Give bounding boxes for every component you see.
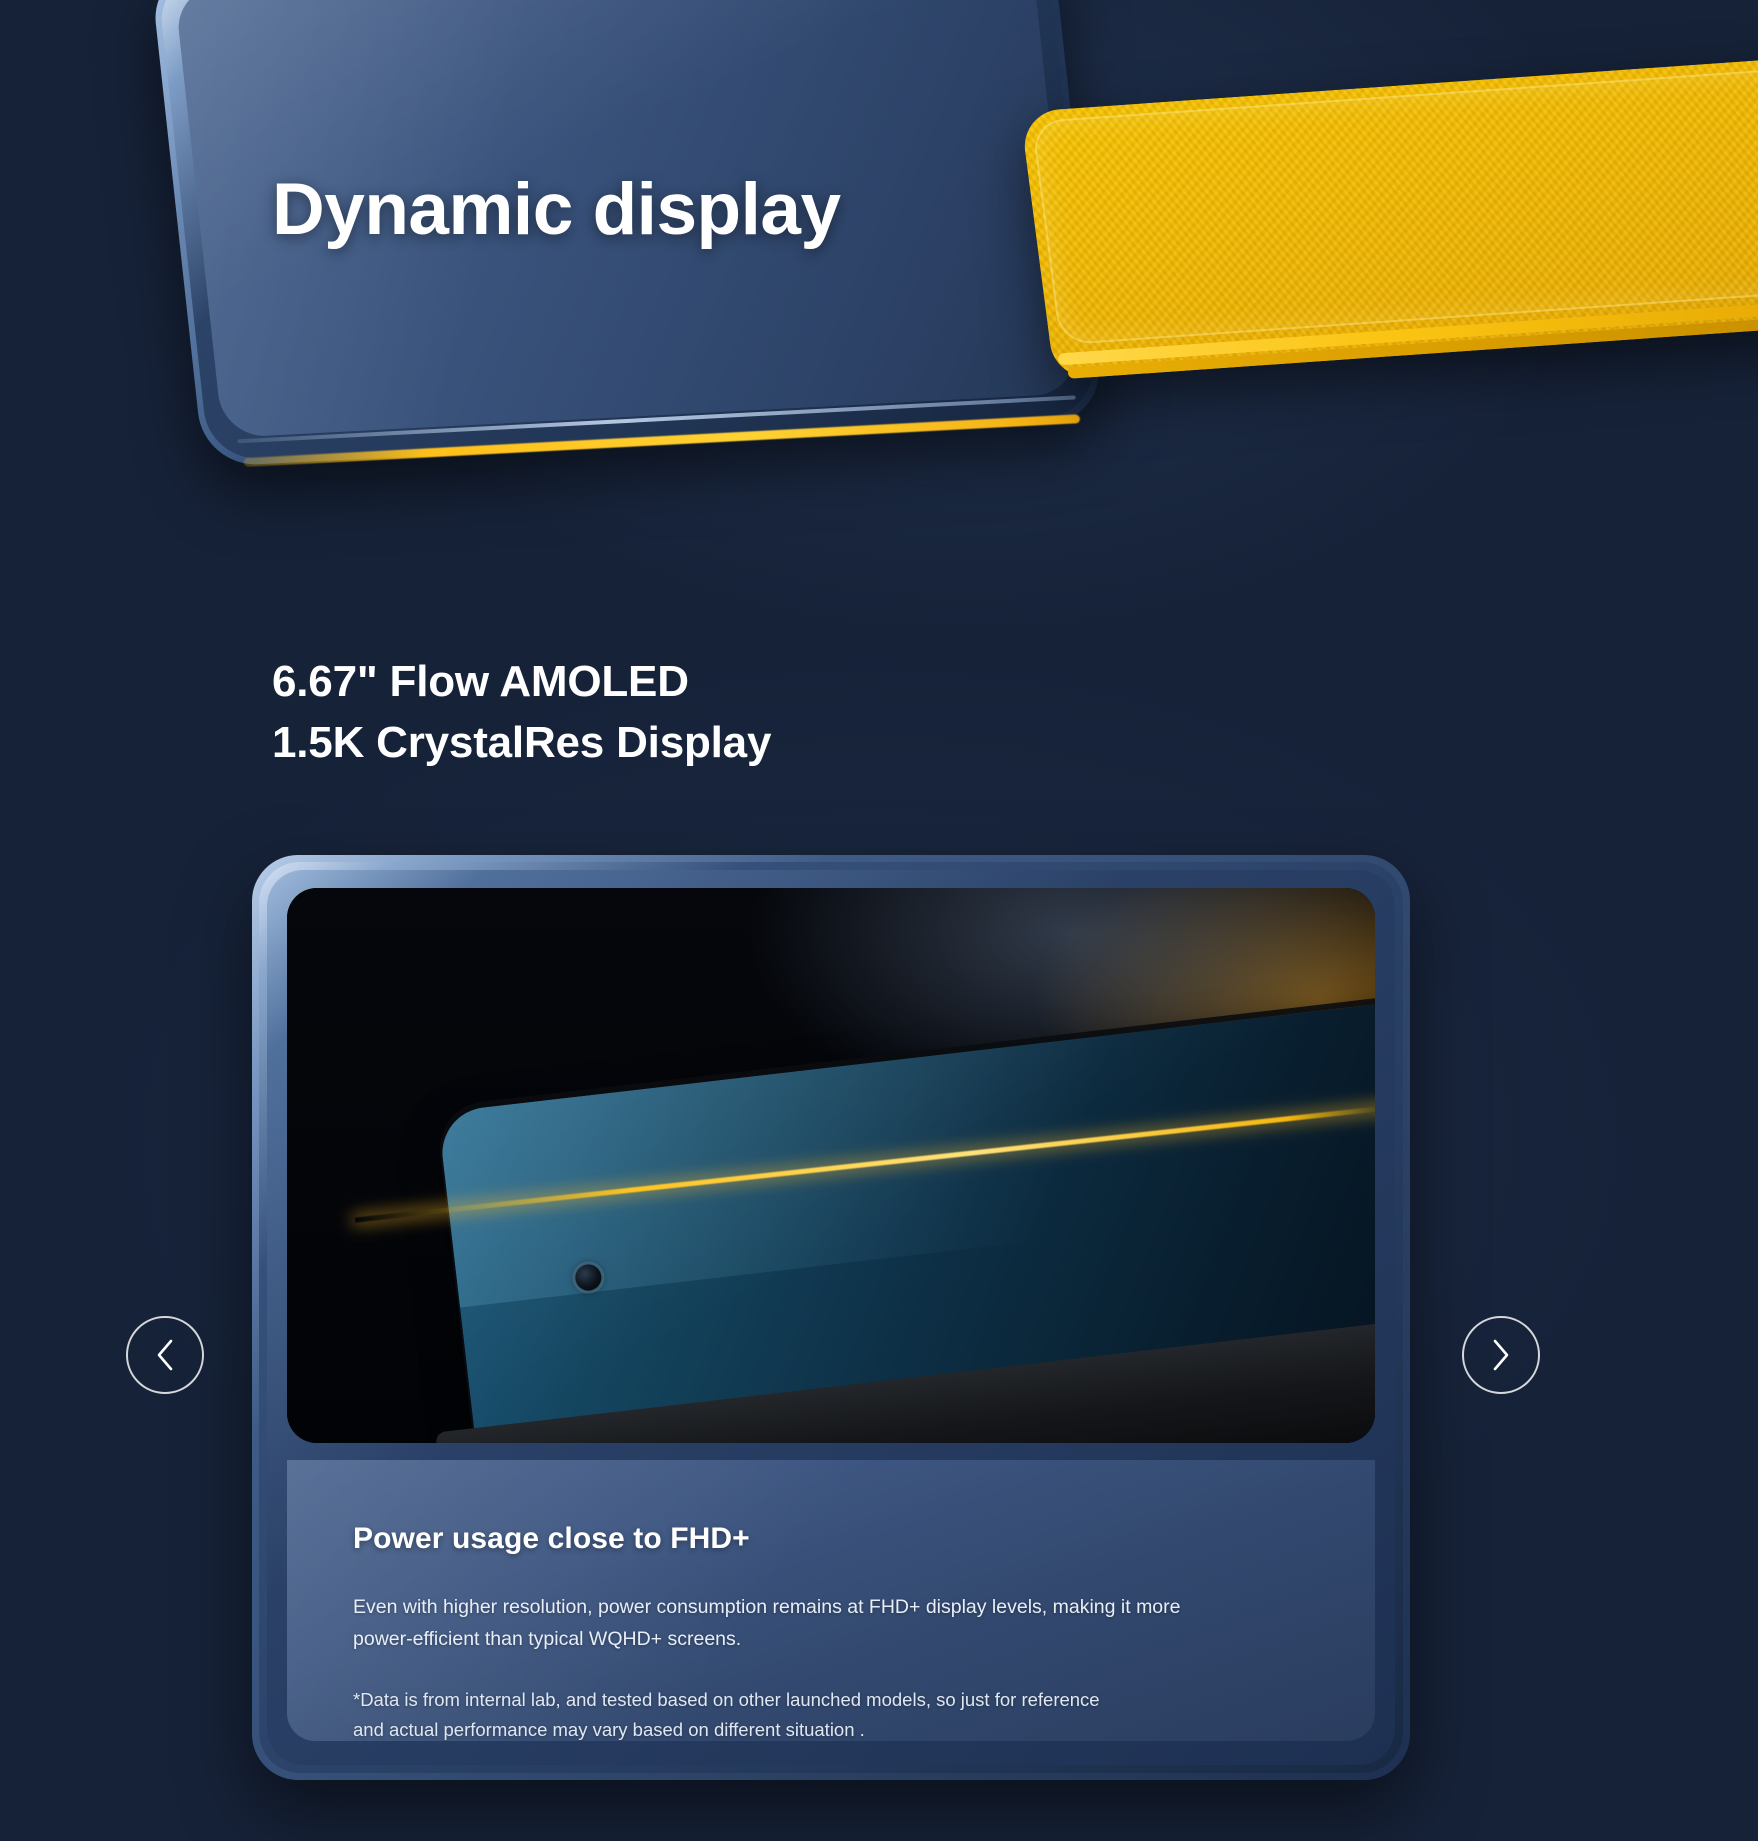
page-title: Dynamic display [272, 168, 841, 251]
carousel-slide-image [287, 888, 1375, 1443]
caption-disclaimer: *Data is from internal lab, and tested b… [353, 1685, 1113, 1741]
carousel-caption-panel: Power usage close to FHD+ Even with high… [287, 1460, 1375, 1741]
carousel-next-button[interactable] [1462, 1316, 1540, 1394]
carousel-slide: Power usage close to FHD+ Even with high… [252, 855, 1410, 1780]
carousel-slide-bezel-inner: Power usage close to FHD+ Even with high… [267, 870, 1395, 1765]
carousel-prev-button[interactable] [126, 1316, 204, 1394]
front-camera-icon [574, 1263, 603, 1292]
caption-body: Even with higher resolution, power consu… [353, 1592, 1183, 1655]
carousel-slide-bezel-outer: Power usage close to FHD+ Even with high… [259, 862, 1403, 1773]
display-carousel: Power usage close to FHD+ Even with high… [0, 0, 1758, 1841]
chevron-left-icon [152, 1337, 178, 1373]
caption-title: Power usage close to FHD+ [353, 1522, 1309, 1556]
chevron-right-icon [1488, 1337, 1514, 1373]
display-feature-page: Dynamic display 6.67" Flow AMOLED 1.5K C… [0, 0, 1758, 1841]
section-heading: 6.67" Flow AMOLED 1.5K CrystalRes Displa… [272, 652, 771, 773]
